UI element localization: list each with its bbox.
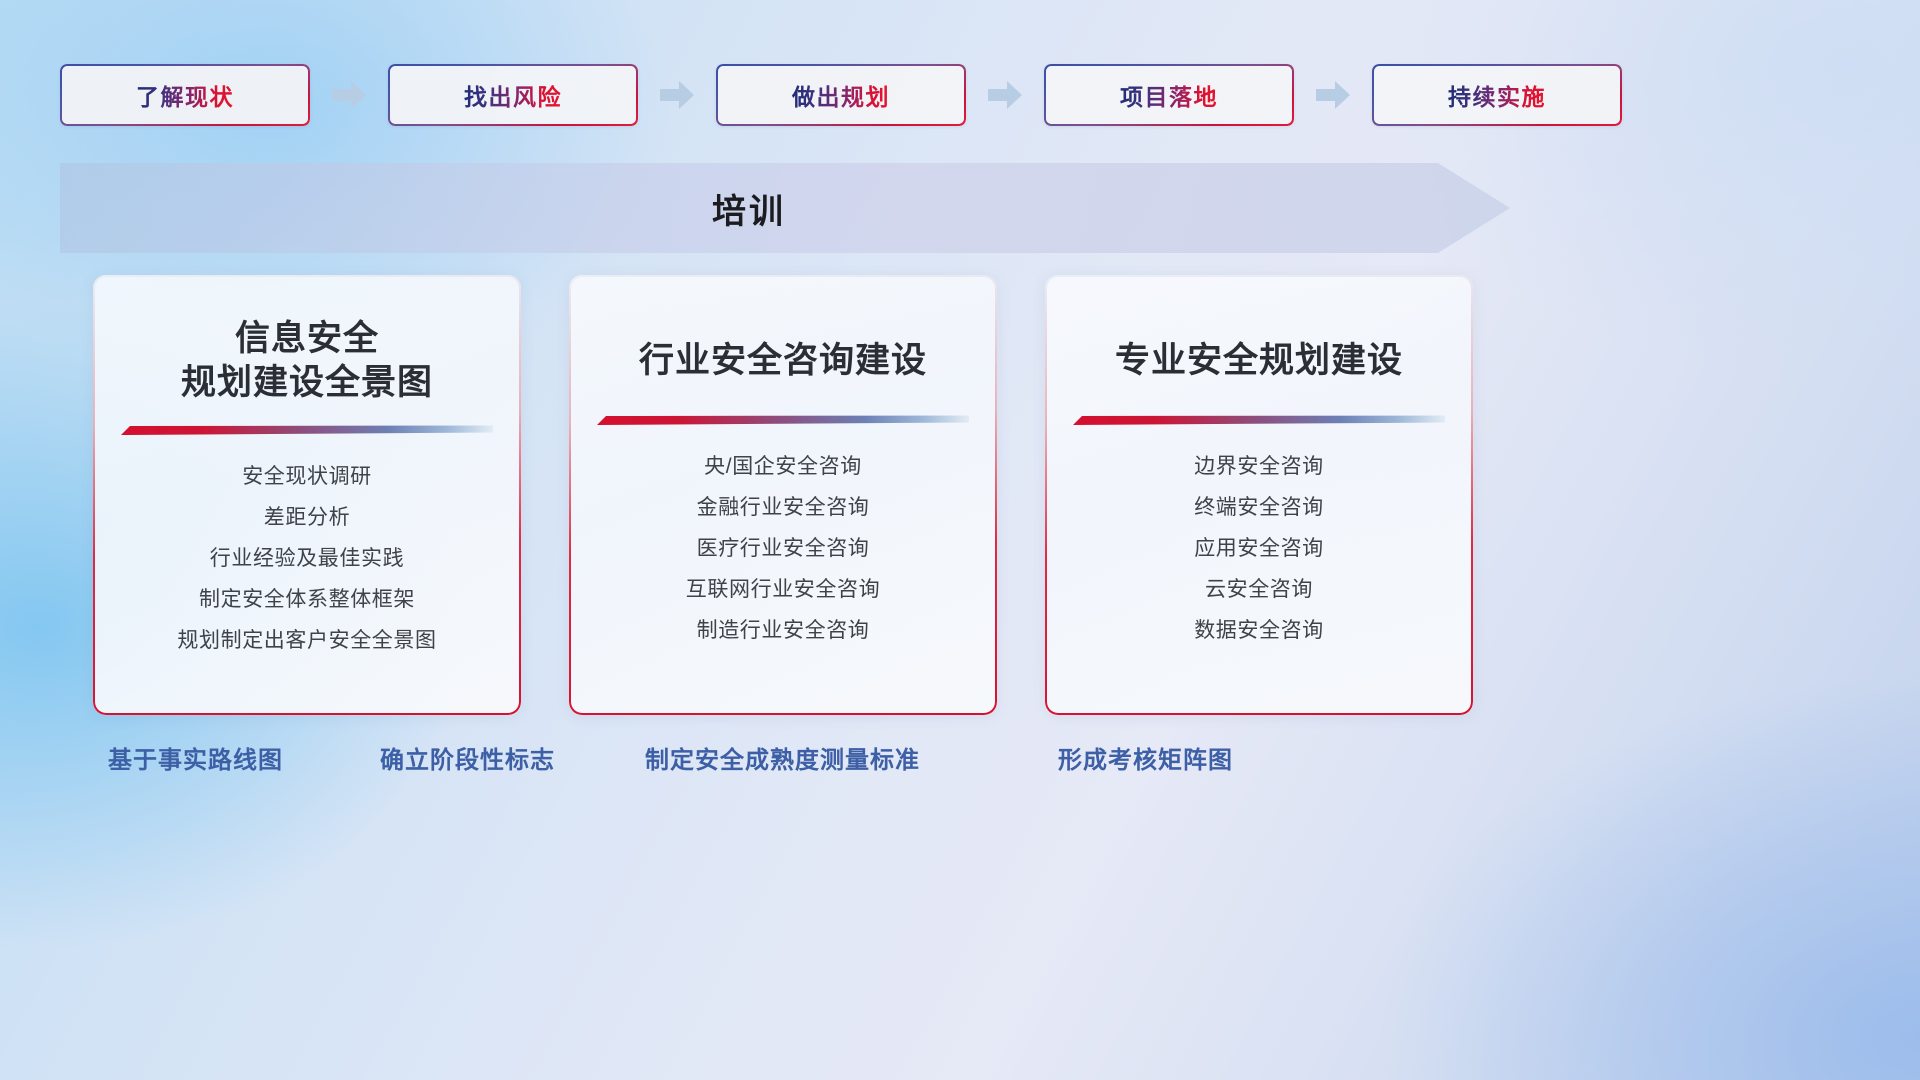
- footer-caption-group: 基于事实路线图确立阶段性标志制定安全成熟度测量标准形成考核矩阵图: [0, 740, 1920, 790]
- list-item: 数据安全咨询: [1045, 610, 1473, 651]
- process-step-label: 找出风险: [464, 78, 562, 112]
- footer-caption-1: 基于事实路线图: [108, 740, 283, 775]
- process-step-2[interactable]: 找出风险: [388, 64, 638, 126]
- service-card-list: 边界安全咨询终端安全咨询应用安全咨询云安全咨询数据安全咨询: [1045, 446, 1473, 651]
- right-arrow-icon: [332, 80, 366, 110]
- list-item: 应用安全咨询: [1045, 528, 1473, 569]
- list-item: 边界安全咨询: [1045, 446, 1473, 487]
- service-card-title: 行业安全咨询建设: [639, 339, 927, 383]
- list-item: 安全现状调研: [93, 456, 521, 497]
- process-step-label: 项目落地: [1120, 78, 1218, 112]
- list-item: 互联网行业安全咨询: [569, 569, 997, 610]
- list-item: 制造行业安全咨询: [569, 610, 997, 651]
- list-item: 差距分析: [93, 497, 521, 538]
- footer-caption-2: 确立阶段性标志: [380, 740, 555, 775]
- process-step-flow: 了解现状找出风险做出规划项目落地持续实施: [60, 62, 1856, 128]
- service-card-group: 信息安全 规划建设全景图安全现状调研差距分析行业经验及最佳实践制定安全体系整体框…: [93, 275, 1473, 715]
- right-arrow-icon: [1316, 80, 1350, 110]
- process-step-label: 做出规划: [792, 78, 890, 112]
- card-divider-line: [1073, 413, 1445, 424]
- footer-caption-4: 形成考核矩阵图: [1058, 740, 1233, 775]
- process-step-4[interactable]: 项目落地: [1044, 64, 1294, 126]
- service-card-list: 安全现状调研差距分析行业经验及最佳实践制定安全体系整体框架规划制定出客户安全全景…: [93, 456, 521, 661]
- service-card-body: 行业安全咨询建设央/国企安全咨询金融行业安全咨询医疗行业安全咨询互联网行业安全咨…: [569, 275, 997, 715]
- list-item: 终端安全咨询: [1045, 487, 1473, 528]
- list-item: 制定安全体系整体框架: [93, 579, 521, 620]
- process-step-label: 持续实施: [1448, 78, 1546, 112]
- process-step-3[interactable]: 做出规划: [716, 64, 966, 126]
- list-item: 行业经验及最佳实践: [93, 538, 521, 579]
- list-item: 云安全咨询: [1045, 569, 1473, 610]
- process-step-5[interactable]: 持续实施: [1372, 64, 1622, 126]
- service-card-body: 信息安全 规划建设全景图安全现状调研差距分析行业经验及最佳实践制定安全体系整体框…: [93, 275, 521, 715]
- footer-caption-3: 制定安全成熟度测量标准: [645, 740, 920, 775]
- process-step-label: 了解现状: [136, 78, 234, 112]
- card-divider-line: [597, 413, 969, 424]
- list-item: 医疗行业安全咨询: [569, 528, 997, 569]
- right-arrow-icon: [988, 80, 1022, 110]
- training-banner: 培训: [60, 163, 1510, 253]
- service-card-body: 专业安全规划建设边界安全咨询终端安全咨询应用安全咨询云安全咨询数据安全咨询: [1045, 275, 1473, 715]
- service-card-list: 央/国企安全咨询金融行业安全咨询医疗行业安全咨询互联网行业安全咨询制造行业安全咨…: [569, 446, 997, 651]
- slide-canvas: 了解现状找出风险做出规划项目落地持续实施 培训 信息安全 规划建设全景图安全现状…: [0, 0, 1920, 1080]
- list-item: 规划制定出客户安全全景图: [93, 620, 521, 661]
- service-card-3[interactable]: 专业安全规划建设边界安全咨询终端安全咨询应用安全咨询云安全咨询数据安全咨询: [1045, 275, 1473, 715]
- service-card-title: 专业安全规划建设: [1115, 339, 1403, 383]
- list-item: 金融行业安全咨询: [569, 487, 997, 528]
- process-step-1[interactable]: 了解现状: [60, 64, 310, 126]
- service-card-title: 信息安全 规划建设全景图: [181, 317, 433, 405]
- right-arrow-icon: [660, 80, 694, 110]
- service-card-1[interactable]: 信息安全 规划建设全景图安全现状调研差距分析行业经验及最佳实践制定安全体系整体框…: [93, 275, 521, 715]
- service-card-2[interactable]: 行业安全咨询建设央/国企安全咨询金融行业安全咨询医疗行业安全咨询互联网行业安全咨…: [569, 275, 997, 715]
- banner-title: 培训: [60, 163, 1438, 253]
- list-item: 央/国企安全咨询: [569, 446, 997, 487]
- card-divider-line: [121, 423, 493, 434]
